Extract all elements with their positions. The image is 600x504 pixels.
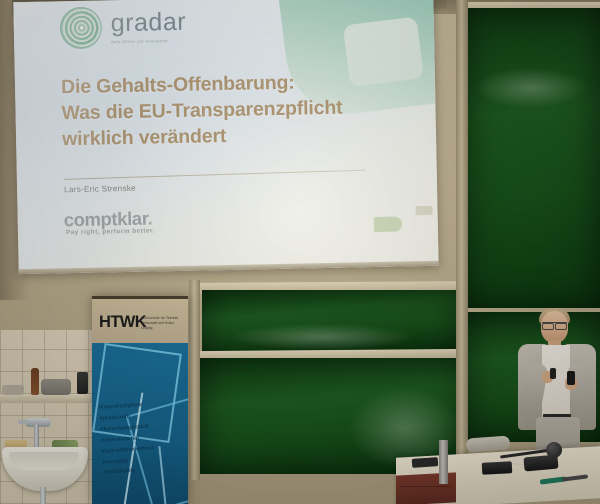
banner-hashtag-list: #interdisziplinär #praxisnah #forschungs… — [98, 397, 187, 479]
board-pillar-center — [189, 280, 200, 480]
slide-author: Lars-Eric Strenske — [64, 184, 136, 194]
smartphone — [567, 371, 575, 385]
chalk-smudge — [476, 68, 586, 108]
microphone-head — [546, 442, 562, 458]
wall-shelf — [0, 394, 92, 403]
chalkboard-right-upper — [466, 8, 600, 308]
gradar-wordmark: gradar — [111, 9, 187, 36]
shelf-cloth — [2, 385, 24, 395]
sink-basin-inner — [9, 452, 79, 470]
sink-pipe — [40, 487, 46, 504]
htwk-logo: HTWK — [99, 313, 146, 332]
shelf-rag — [41, 379, 71, 395]
desk-device-a — [412, 457, 439, 468]
banner-header: HTWK Hochschule für Technik, Wirtschaft … — [92, 296, 188, 343]
slide-accent-grey — [415, 206, 432, 215]
gradar-tagline: data driven job evaluation — [111, 37, 186, 44]
htwk-rollup-banner: HTWK Hochschule für Technik, Wirtschaft … — [92, 296, 188, 504]
board-pillar-right — [456, 0, 468, 460]
desk-device-b — [482, 461, 513, 475]
comptklar-tagline: Pay right, perform better. — [66, 227, 155, 236]
comptklar-dot: . — [147, 207, 152, 228]
microphone-stand — [439, 440, 448, 484]
slide-title: Die Gehalts-Offenbarung: Was die EU-Tran… — [61, 68, 402, 153]
htwk-subtitle: Hochschule für Technik, Wirtschaft und K… — [141, 316, 185, 331]
concentric-spiral-icon — [59, 6, 102, 49]
slide-accent-green — [374, 216, 402, 232]
chalk-smudge — [232, 324, 412, 350]
gradar-logo: gradar data driven job evaluation — [59, 5, 186, 50]
lecture-hall-photo: gradar data driven job evaluation Die Ge… — [0, 0, 600, 504]
chalkboard-center-upper — [202, 290, 464, 352]
presentation-clicker — [550, 368, 556, 379]
faucet-handle — [18, 420, 28, 424]
dispenser — [77, 372, 88, 394]
bottle — [31, 368, 39, 395]
desk-panel-line — [400, 486, 450, 487]
slide-divider — [64, 170, 366, 180]
projection-screen: gradar data driven job evaluation Die Ge… — [13, 0, 438, 274]
glasses-icon — [542, 322, 567, 328]
presenter — [516, 311, 600, 463]
